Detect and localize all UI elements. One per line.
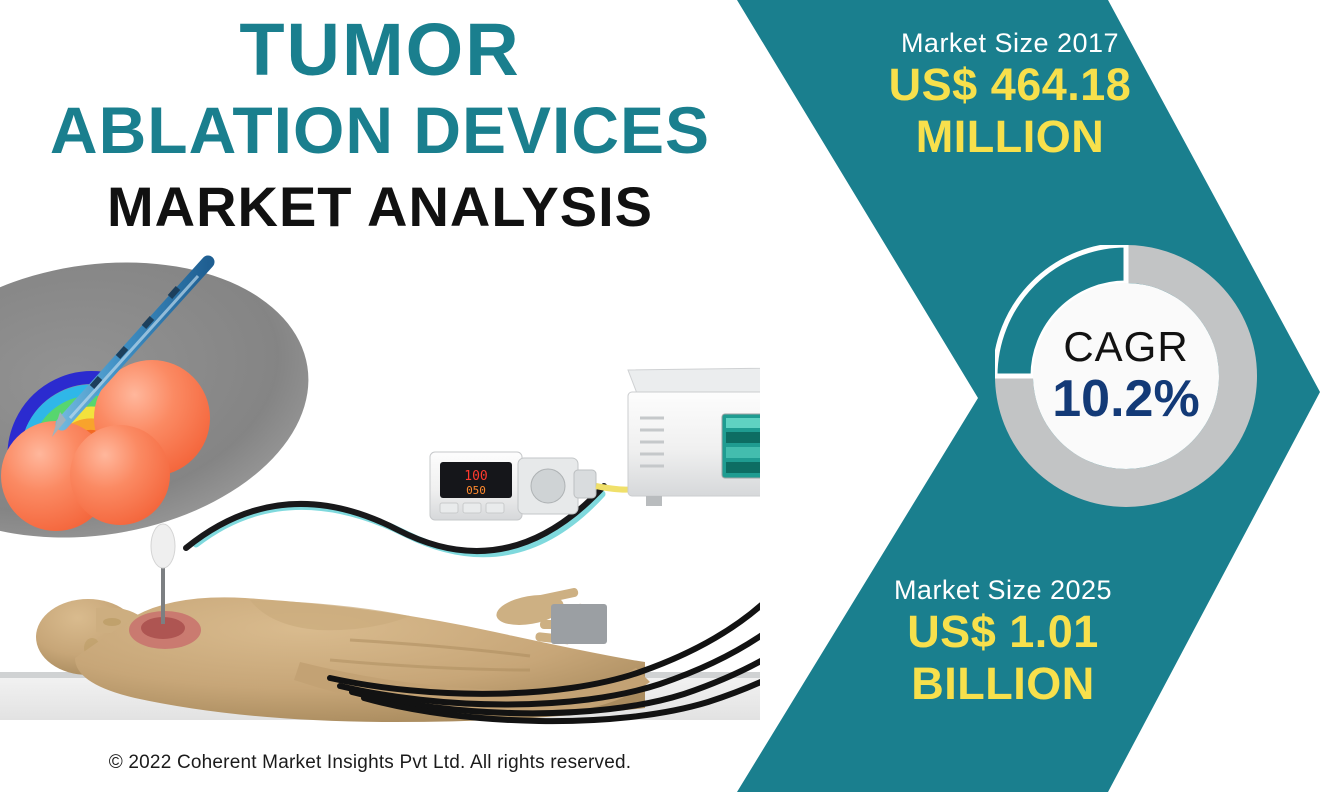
svg-text:100: 100 — [464, 469, 487, 484]
cagr-label: CAGR — [1063, 324, 1188, 370]
market-size-2017-label: Market Size 2017 — [845, 28, 1175, 59]
market-size-2025-label: Market Size 2025 — [838, 575, 1168, 606]
svg-text:050: 050 — [466, 484, 486, 497]
cagr-value: 10.2% — [1052, 370, 1199, 428]
cagr-donut-text: CAGR 10.2% — [995, 245, 1257, 507]
copyright-footer: © 2022 Coherent Market Insights Pvt Ltd.… — [0, 752, 740, 774]
peristaltic-pump-unit: 100 050 — [430, 452, 638, 520]
page-title: TUMOR ABLATION DEVICES MARKET ANALYSIS — [0, 8, 760, 242]
title-line-3: MARKET ANALYSIS — [0, 172, 760, 242]
title-line-2: ABLATION DEVICES — [0, 92, 760, 168]
grounding-pad — [551, 604, 607, 644]
title-line-1: TUMOR — [0, 8, 760, 92]
tumor-ablation-closeup-icon — [0, 233, 328, 567]
cagr-donut: CAGR 10.2% — [995, 245, 1257, 507]
rf-ablation-generator: Medtronic RF Generator — [628, 366, 760, 506]
market-size-2025-value-line1: US$ 1.01 — [838, 606, 1168, 658]
market-size-2017-value-line2: MILLION — [845, 111, 1175, 163]
infographic-root: 100 050 — [0, 0, 1320, 792]
market-size-2017-value-line1: US$ 464.18 — [845, 59, 1175, 111]
market-size-2017-block: Market Size 2017 US$ 464.18 MILLION — [845, 28, 1175, 163]
market-size-2025-block: Market Size 2025 US$ 1.01 BILLION — [838, 575, 1168, 710]
market-size-2025-value-line2: BILLION — [838, 658, 1168, 710]
